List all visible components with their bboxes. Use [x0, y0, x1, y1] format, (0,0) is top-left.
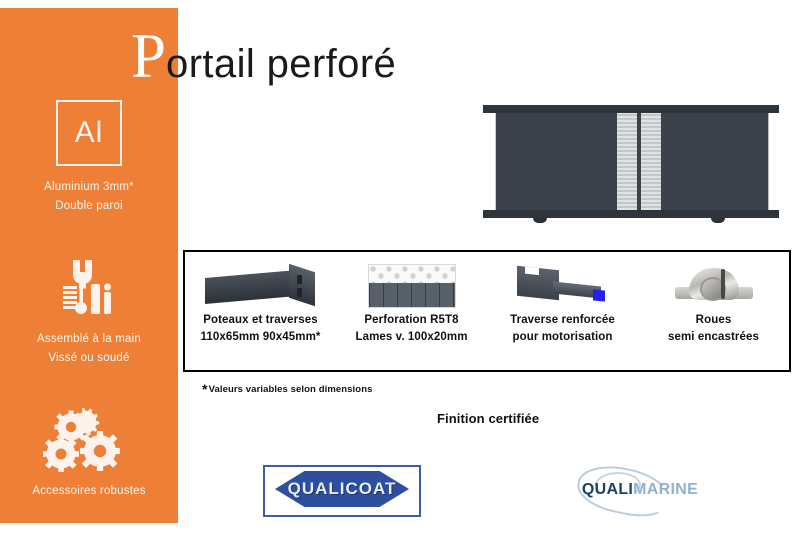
sidebar-feature-line: Accessoires robustes: [0, 482, 178, 501]
feature-label: Perforation R5T8: [364, 312, 458, 329]
motor-beam-icon: [513, 260, 613, 312]
wrench-bolts-icon: [0, 256, 178, 322]
feature-roues: Roues semi encastrées: [638, 252, 789, 370]
sidebar-feature-line: Vissé ou soudé: [0, 349, 178, 368]
qualicoat-logo-text: QUALICOAT: [265, 479, 419, 499]
sidebar-feature-accessories: Accessoires robustes: [0, 408, 178, 501]
feature-poteaux: Poteaux et traverses 110x65mm 90x45mm*: [185, 252, 336, 370]
page-title-initial: P: [131, 25, 166, 87]
sidebar-feature-assembly: Assemblé à la main Vissé ou soudé: [0, 256, 178, 368]
footnote: *Valeurs variables selon dimensions: [202, 381, 372, 397]
feature-sublabel: 110x65mm 90x45mm*: [201, 329, 321, 346]
sidebar-feature-line: Aluminium 3mm*: [0, 178, 178, 197]
certification-title: Finition certifiée: [437, 411, 539, 426]
gate-wheel-foot: [711, 218, 725, 223]
feature-label: Traverse renforcée: [510, 312, 615, 329]
post-beam-icon: [205, 260, 317, 312]
aluminium-symbol-label: Al: [75, 116, 104, 150]
aluminium-square-icon: Al: [56, 100, 122, 166]
gate-bottom-rail: [483, 210, 779, 218]
feature-perforation: Perforation R5T8 Lames v. 100x20mm: [336, 252, 487, 370]
sidebar-feature-aluminium: Al Aluminium 3mm* Double paroi: [0, 100, 178, 216]
features-box: Poteaux et traverses 110x65mm 90x45mm* P…: [183, 250, 791, 372]
product-datasheet-page: Al Aluminium 3mm* Double paroi: [0, 0, 800, 534]
feature-label: Poteaux et traverses: [203, 312, 318, 329]
page-title-text: ortail perforé: [166, 40, 396, 88]
sidebar-feature-line: Assemblé à la main: [0, 330, 178, 349]
gears-icon: [0, 408, 178, 474]
qualicoat-logo: QUALICOAT: [263, 465, 421, 517]
wheel-bearing-icon: [675, 260, 753, 312]
sidebar-feature-line: Double paroi: [0, 197, 178, 216]
feature-label: Roues: [696, 312, 732, 329]
footnote-text: Valeurs variables selon dimensions: [209, 384, 373, 395]
perforation-sample-icon: [368, 260, 456, 312]
gate-perforated-strip: [641, 113, 661, 210]
footnote-asterisk: *: [202, 381, 208, 397]
qualimarine-logo: QUALIMARINE: [565, 468, 715, 512]
gate-top-rail: [483, 105, 779, 113]
qualimarine-logo-text: QUALIMARINE: [565, 481, 715, 499]
gate-perforated-strip: [617, 113, 637, 210]
portail-perfore-photo: [483, 105, 779, 225]
feature-sublabel: semi encastrées: [668, 329, 759, 346]
gate-wheel-foot: [533, 218, 547, 223]
feature-traverse: Traverse renforcée pour motorisation: [487, 252, 638, 370]
page-title: Portail perforé: [131, 25, 396, 87]
qualimarine-text-part-b: MARINE: [633, 481, 698, 498]
feature-sublabel: Lames v. 100x20mm: [355, 329, 467, 346]
qualimarine-text-part-a: QUALI: [582, 481, 633, 498]
feature-sublabel: pour motorisation: [512, 329, 612, 346]
